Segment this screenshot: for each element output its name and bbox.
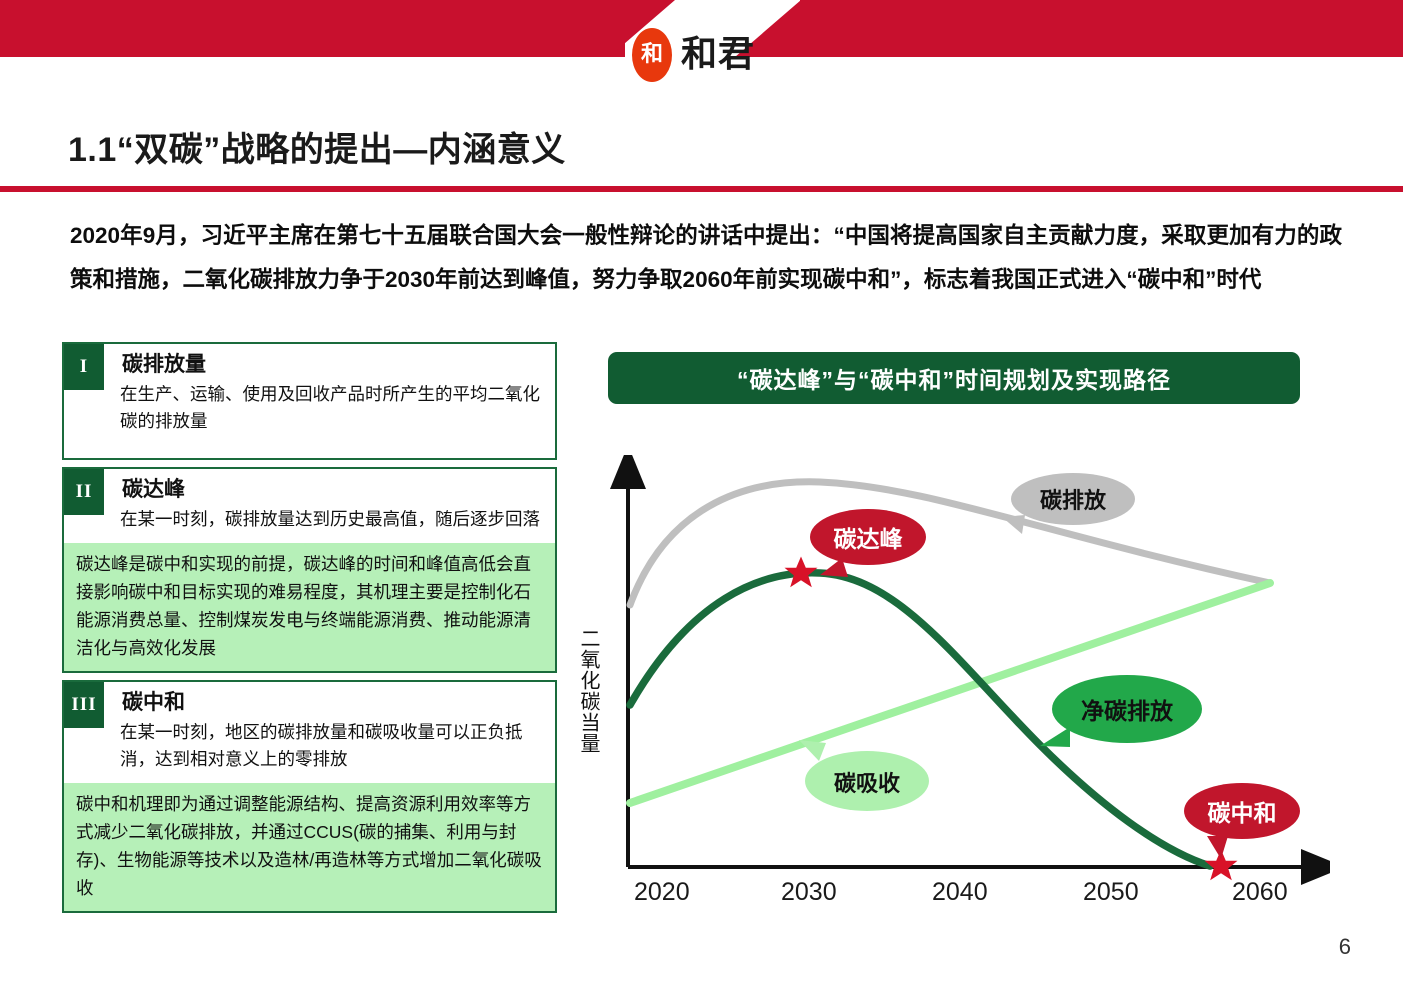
card-badge: I xyxy=(64,344,104,390)
x-tick-label: 2050 xyxy=(1083,878,1139,907)
title-divider xyxy=(0,186,1403,192)
card-heading: 碳中和 xyxy=(64,682,555,719)
header-red-band-left xyxy=(0,0,625,57)
annotation-bubble-net-carbon-emission: 净碳排放 xyxy=(1040,675,1202,747)
series-line-carbon-emission xyxy=(630,482,1270,605)
chart-canvas: 碳排放 碳达峰 净碳排放 碳吸收 xyxy=(570,455,1330,915)
logo-seal-icon: 和 xyxy=(632,28,672,82)
company-logo: 和 和君 xyxy=(632,26,760,84)
annotation-bubble-carbon-emission: 碳排放 xyxy=(1002,473,1135,534)
chart-banner-title: “碳达峰”与“碳中和”时间规划及实现路径 xyxy=(608,352,1300,404)
chart-svg: 碳排放 碳达峰 净碳排放 碳吸收 xyxy=(570,455,1330,915)
annotation-label: 碳吸收 xyxy=(834,771,900,796)
concept-card: III 碳中和 在某一时刻，地区的碳排放量和碳吸收量可以正负抵消，达到相对意义上… xyxy=(62,680,557,913)
annotation-label: 碳中和 xyxy=(1208,800,1277,826)
card-body-text: 在某一时刻，碳排放量达到历史最高值，随后逐步回落 xyxy=(64,506,555,543)
x-tick-label: 2060 xyxy=(1232,878,1288,907)
annotation-label: 碳达峰 xyxy=(834,526,904,552)
logo-wordmark: 和君 xyxy=(681,37,755,73)
page-title: 1.1“双碳”战略的提出—内涵意义 xyxy=(68,122,566,171)
card-heading: 碳达峰 xyxy=(64,469,555,506)
card-body-text: 在生产、运输、使用及回收产品时所产生的平均二氧化碳的排放量 xyxy=(64,381,555,445)
slide-root: 和 和君 1.1“双碳”战略的提出—内涵意义 2020年9月，习近平主席在第七十… xyxy=(0,0,1403,992)
card-heading: 碳排放量 xyxy=(64,344,555,381)
concept-card-list: I 碳排放量 在生产、运输、使用及回收产品时所产生的平均二氧化碳的排放量 II … xyxy=(62,342,557,920)
card-body-text: 在某一时刻，地区的碳排放量和碳吸收量可以正负抵消，达到相对意义上的零排放 xyxy=(64,719,555,783)
concept-card: I 碳排放量 在生产、运输、使用及回收产品时所产生的平均二氧化碳的排放量 xyxy=(62,342,557,460)
annotation-bubble-carbon-absorption: 碳吸收 xyxy=(799,740,929,811)
x-tick-label: 2030 xyxy=(781,878,837,907)
card-note-text: 碳达峰是碳中和实现的前提，碳达峰的时间和峰值高低会直接影响碳中和目标实现的难易程… xyxy=(64,543,555,671)
concept-card: II 碳达峰 在某一时刻，碳排放量达到历史最高值，随后逐步回落 碳达峰是碳中和实… xyxy=(62,467,557,673)
card-badge: II xyxy=(64,469,104,515)
card-note-text: 碳中和机理即为通过调整能源结构、提高资源利用效率等方式减少二氧化碳排放，并通过C… xyxy=(64,783,555,911)
page-number: 6 xyxy=(1339,934,1351,960)
card-badge: III xyxy=(64,682,104,728)
annotation-bubble-carbon-peak: 碳达峰 xyxy=(810,509,926,577)
annotation-bubble-carbon-neutrality: 碳中和 xyxy=(1184,783,1300,859)
annotation-label: 碳排放 xyxy=(1040,488,1107,513)
logo-seal-char: 和 xyxy=(641,44,663,66)
header-red-band-right xyxy=(800,0,1403,57)
x-tick-label: 2020 xyxy=(634,878,690,907)
x-tick-label: 2040 xyxy=(932,878,988,907)
intro-paragraph: 2020年9月，习近平主席在第七十五届联合国大会一般性辩论的讲话中提出：“中国将… xyxy=(70,214,1342,302)
annotation-label: 净碳排放 xyxy=(1081,698,1174,724)
